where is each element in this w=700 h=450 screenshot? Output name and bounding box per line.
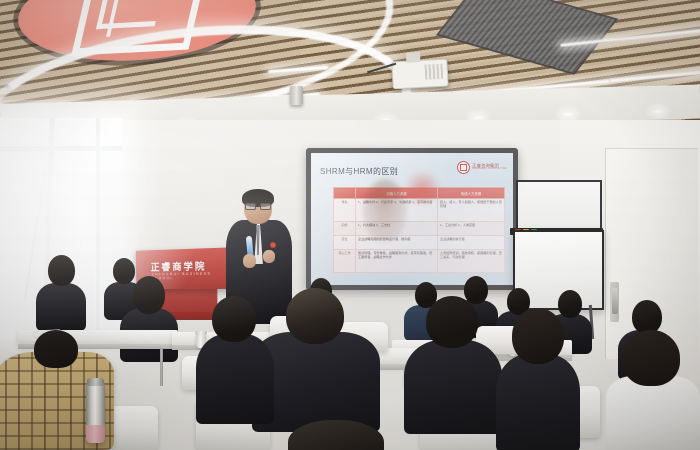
eyeglasses-icon — [245, 203, 271, 208]
row-col2: 企业战略的执行者 — [438, 235, 505, 249]
presenter-hand — [243, 254, 256, 268]
attendee — [36, 255, 86, 329]
spotlight-can-icon — [290, 86, 303, 105]
attendee-body — [404, 340, 502, 434]
slide-title: SHRM与HRM的区别 — [320, 166, 398, 177]
row-label: 核心工作 — [334, 250, 356, 273]
screen-reflection-banner — [403, 171, 443, 205]
slide-logo-ring-icon — [457, 161, 470, 174]
table-leg — [160, 348, 163, 386]
lens-left — [245, 203, 256, 210]
attendee-foreground — [196, 296, 274, 422]
attendee-head — [426, 296, 478, 348]
attendee-foreground — [288, 420, 384, 450]
attendee-foreground — [606, 330, 700, 450]
attendee-head — [288, 420, 384, 450]
slide-logo-en: ZHENGRUI CONSULTING — [472, 168, 507, 171]
table-row: 定位 企业战略和组织的建构设计者、推动者 企业战略的执行者 — [334, 235, 505, 249]
projector-icon — [391, 59, 448, 90]
attendee-head — [133, 276, 165, 314]
attendee-head — [48, 255, 75, 286]
presenter-lapel-badge-icon — [270, 242, 276, 248]
attendee-body — [496, 354, 580, 450]
attendee-body — [196, 334, 274, 424]
attendee-foreground — [496, 308, 580, 450]
slide-screen: SHRM与HRM的区别 正睿咨询集团 ZHENGRUI CONSULTING 战… — [311, 153, 513, 285]
attendee-body — [36, 283, 86, 331]
attendee-head — [34, 330, 78, 368]
attendee-foreground — [404, 296, 502, 432]
slide-logo: 正睿咨询集团 ZHENGRUI CONSULTING — [457, 161, 507, 174]
downlight-icon — [650, 108, 666, 115]
row-label: 职能 — [334, 221, 356, 235]
downlight-icon — [560, 111, 576, 118]
screen-reflection-person — [363, 179, 407, 241]
thermos-cap — [87, 378, 104, 386]
row-label: 定位 — [334, 235, 356, 249]
row-col2: 招人、用人、育人和留人，职能型干部的人员管理 — [438, 199, 505, 222]
projector-mount — [406, 52, 421, 63]
table-row: 核心工作 知识管理、专家角色、战略服务伙伴、变革管理者、员工服务者、战略合作伙伴… — [334, 250, 505, 273]
table-header-blank — [334, 188, 356, 199]
attendee-head — [632, 300, 662, 334]
row-col2: 人员招聘培训、绩效考核、薪酬福利管理、员工关系、行政管理 — [438, 250, 505, 273]
presenter-hand — [263, 250, 275, 263]
table-header-traditional: 传统人力资源 — [438, 188, 505, 199]
attendee-head — [512, 308, 564, 364]
seminar-photo: SHRM与HRM的区别 正睿咨询集团 ZHENGRUI CONSULTING 战… — [0, 0, 700, 450]
row-label: 角色 — [334, 199, 356, 222]
attendee-head — [622, 330, 680, 386]
attendee-head — [286, 288, 344, 344]
thermos-flask — [86, 383, 105, 443]
table-row: 职能 1、六大模块 2、三支柱 1、工资分析 2、人岗匹配 — [334, 221, 505, 235]
attendee-body — [606, 376, 700, 450]
attendee-head — [212, 296, 256, 342]
projector-vent — [425, 64, 444, 80]
thermos-band — [86, 425, 105, 443]
row-col2: 1、工资分析 2、人岗匹配 — [438, 221, 505, 235]
row-col1: 知识管理、专家角色、战略服务伙伴、变革管理者、员工服务者、战略合作伙伴 — [356, 250, 438, 273]
lens-right — [260, 203, 271, 210]
presentation-display[interactable]: SHRM与HRM的区别 正睿咨询集团 ZHENGRUI CONSULTING 战… — [306, 148, 518, 290]
